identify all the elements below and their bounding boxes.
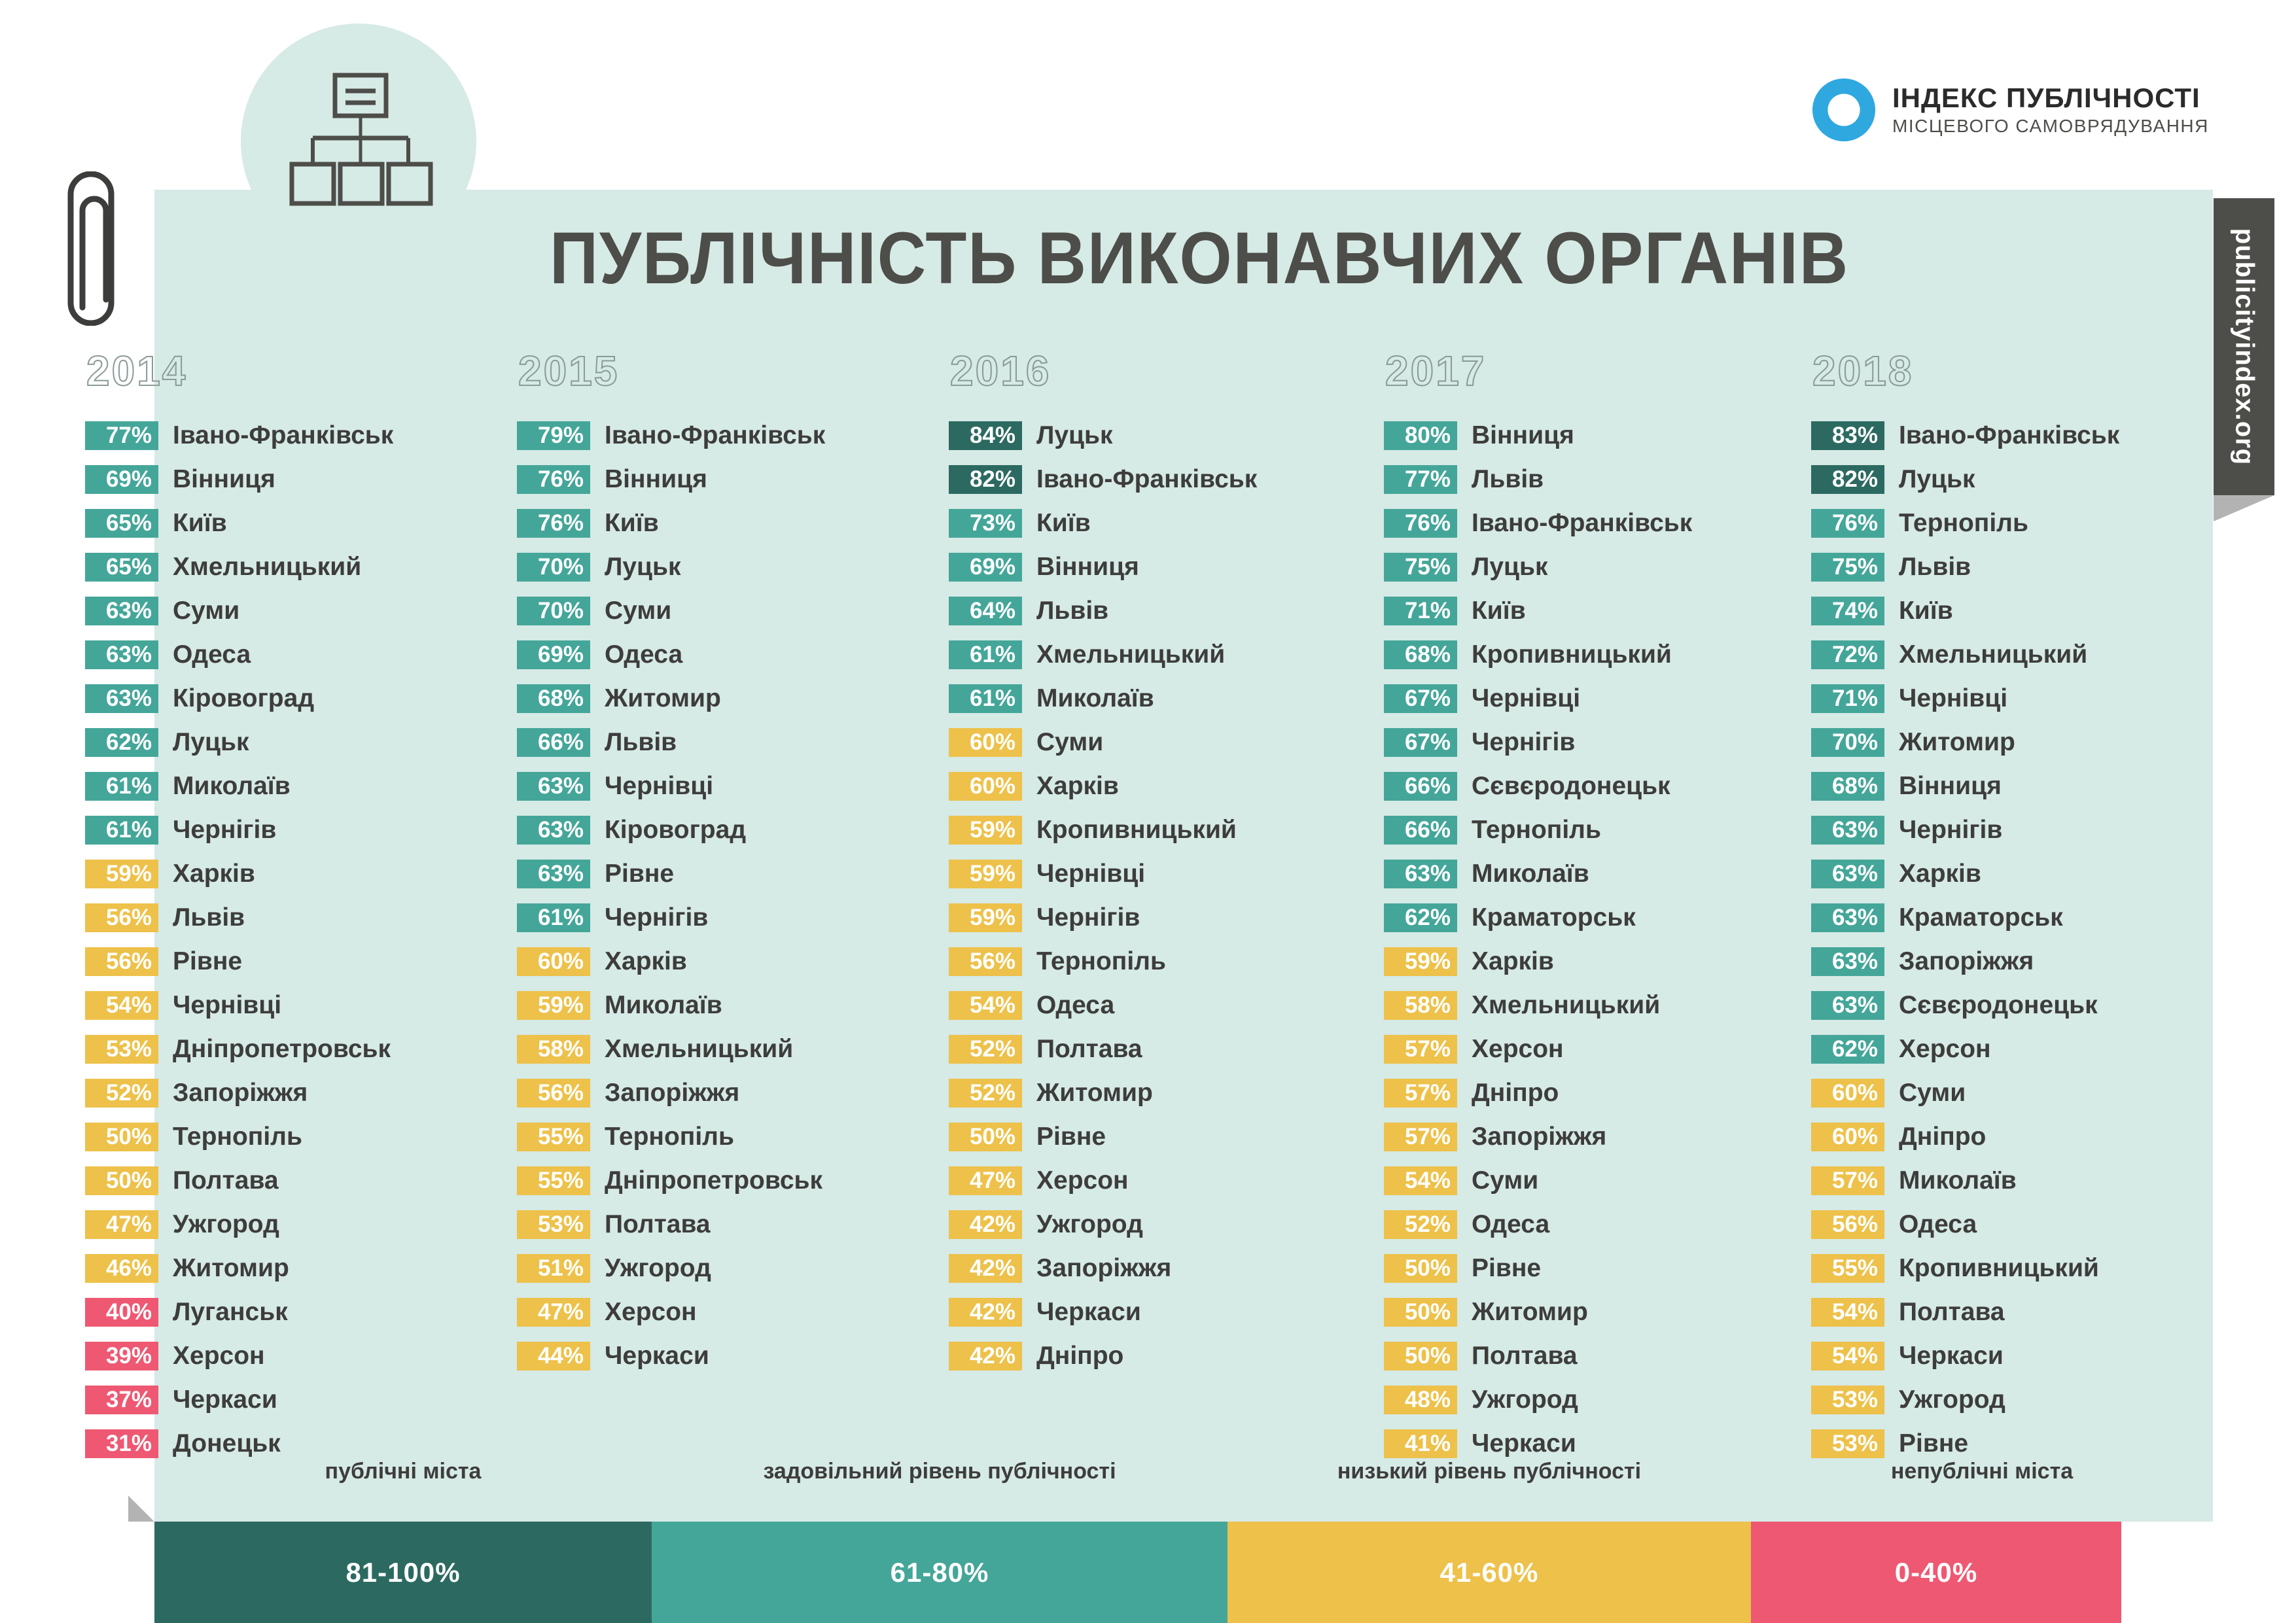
legend-labels: публічні містазадовільний рівень публічн… bbox=[154, 1459, 2213, 1522]
city-label: Луганськ bbox=[173, 1298, 288, 1327]
ranking-row: 77%Львів bbox=[1384, 461, 1692, 498]
infographic-canvas: ПУБЛІЧНІСТЬ ВИКОНАВЧИХ ОРГАНІВ ІНДЕКС ПУ… bbox=[0, 0, 2296, 1623]
score-chip: 76% bbox=[1384, 509, 1457, 538]
score-chip: 37% bbox=[85, 1386, 158, 1414]
city-label: Черкаси bbox=[1472, 1429, 1576, 1458]
city-label: Чернівці bbox=[1036, 860, 1145, 888]
score-chip: 79% bbox=[517, 421, 590, 450]
ranking-row: 46%Житомир bbox=[85, 1250, 393, 1287]
ranking-row: 58%Хмельницький bbox=[1384, 987, 1692, 1024]
score-chip: 55% bbox=[517, 1123, 590, 1151]
city-label: Черкаси bbox=[1036, 1298, 1141, 1327]
ranking-row: 68%Вінниця bbox=[1811, 768, 2119, 805]
city-label: Чернівці bbox=[1899, 684, 2007, 713]
city-label: Київ bbox=[1036, 509, 1091, 538]
ranking-row: 79%Івано-Франківськ bbox=[517, 417, 825, 454]
ranking-row: 68%Житомир bbox=[517, 680, 825, 717]
score-chip: 54% bbox=[949, 991, 1022, 1020]
score-chip: 72% bbox=[1811, 640, 1884, 669]
score-chip: 57% bbox=[1384, 1035, 1457, 1064]
year-column-2015: 201579%Івано-Франківськ76%Вінниця76%Київ… bbox=[517, 347, 825, 1382]
score-chip: 42% bbox=[949, 1342, 1022, 1370]
score-chip: 54% bbox=[85, 991, 158, 1020]
year-heading: 2018 bbox=[1812, 347, 2119, 395]
ranking-row: 48%Ужгород bbox=[1384, 1382, 1692, 1418]
score-chip: 63% bbox=[1811, 816, 1884, 845]
ranking-row: 56%Запоріжжя bbox=[517, 1075, 825, 1111]
city-label: Тернопіль bbox=[173, 1123, 302, 1151]
city-label: Київ bbox=[1472, 597, 1526, 625]
city-label: Луцьк bbox=[1036, 421, 1113, 450]
city-label: Вінниця bbox=[173, 465, 275, 494]
ranking-row: 76%Вінниця bbox=[517, 461, 825, 498]
ranking-row: 62%Херсон bbox=[1811, 1031, 2119, 1068]
city-label: Полтава bbox=[1899, 1298, 2005, 1327]
city-label: Херсон bbox=[605, 1298, 697, 1327]
score-chip: 54% bbox=[1811, 1342, 1884, 1370]
ranking-row: 52%Одеса bbox=[1384, 1206, 1692, 1243]
score-chip: 61% bbox=[85, 772, 158, 801]
ranking-row: 57%Дніпро bbox=[1384, 1075, 1692, 1111]
score-chip: 52% bbox=[949, 1079, 1022, 1108]
ranking-row: 63%Рівне bbox=[517, 856, 825, 892]
score-chip: 56% bbox=[949, 947, 1022, 976]
year-heading: 2014 bbox=[86, 347, 393, 395]
ranking-row: 63%Чернігів bbox=[1811, 812, 2119, 848]
score-chip: 75% bbox=[1384, 553, 1457, 582]
score-chip: 63% bbox=[85, 597, 158, 625]
ranking-row: 47%Херсон bbox=[949, 1162, 1257, 1199]
city-label: Тернопіль bbox=[605, 1123, 734, 1151]
city-label: Вінниця bbox=[605, 465, 707, 494]
city-label: Кропивницький bbox=[1036, 816, 1237, 845]
city-label: Дніпропетровськ bbox=[173, 1035, 391, 1064]
score-chip: 47% bbox=[85, 1210, 158, 1239]
ranking-row: 54%Полтава bbox=[1811, 1294, 2119, 1331]
city-label: Одеса bbox=[1036, 991, 1114, 1020]
ranking-row: 39%Херсон bbox=[85, 1338, 393, 1374]
city-label: Полтава bbox=[173, 1166, 279, 1195]
legend-range-0: 81-100% bbox=[154, 1522, 652, 1623]
city-label: Чернігів bbox=[1036, 903, 1140, 932]
year-heading: 2015 bbox=[518, 347, 825, 395]
city-label: Тернопіль bbox=[1472, 816, 1601, 845]
legend-label-1: задовільний рівень публічності bbox=[652, 1459, 1227, 1484]
city-label: Харків bbox=[1899, 860, 1981, 888]
city-label: Миколаїв bbox=[173, 772, 291, 801]
city-label: Житомир bbox=[173, 1254, 289, 1283]
score-chip: 50% bbox=[1384, 1254, 1457, 1283]
ranking-row: 56%Рівне bbox=[85, 943, 393, 980]
city-label: Рівне bbox=[173, 947, 242, 976]
score-chip: 53% bbox=[517, 1210, 590, 1239]
score-chip: 62% bbox=[1811, 1035, 1884, 1064]
city-label: Хмельницький bbox=[1899, 640, 2087, 669]
score-chip: 56% bbox=[517, 1079, 590, 1108]
score-chip: 59% bbox=[1384, 947, 1457, 976]
ranking-row: 53%Полтава bbox=[517, 1206, 825, 1243]
ranking-row: 75%Львів bbox=[1811, 549, 2119, 585]
city-label: Тернопіль bbox=[1899, 509, 2028, 538]
ranking-row: 54%Одеса bbox=[949, 987, 1257, 1024]
ranking-row: 77%Івано-Франківськ bbox=[85, 417, 393, 454]
city-label: Запоріжжя bbox=[1036, 1254, 1171, 1283]
score-chip: 76% bbox=[517, 509, 590, 538]
city-label: Миколаїв bbox=[605, 991, 722, 1020]
score-chip: 63% bbox=[85, 684, 158, 713]
ranking-row: 42%Дніпро bbox=[949, 1338, 1257, 1374]
score-chip: 63% bbox=[1811, 860, 1884, 888]
ranking-row: 63%Запоріжжя bbox=[1811, 943, 2119, 980]
ranking-row: 54%Чернівці bbox=[85, 987, 393, 1024]
ranking-row: 60%Харків bbox=[949, 768, 1257, 805]
ranking-row: 62%Краматорськ bbox=[1384, 899, 1692, 936]
ranking-row: 74%Київ bbox=[1811, 593, 2119, 629]
ranking-row: 61%Чернігів bbox=[85, 812, 393, 848]
ranking-row: 55%Тернопіль bbox=[517, 1119, 825, 1155]
ranking-row: 50%Полтава bbox=[85, 1162, 393, 1199]
ranking-row: 50%Житомир bbox=[1384, 1294, 1692, 1331]
city-label: Полтава bbox=[1472, 1342, 1578, 1370]
score-chip: 59% bbox=[949, 860, 1022, 888]
score-chip: 55% bbox=[1811, 1254, 1884, 1283]
ranking-row: 84%Луцьк bbox=[949, 417, 1257, 454]
score-chip: 53% bbox=[1811, 1429, 1884, 1458]
score-chip: 70% bbox=[517, 597, 590, 625]
ranking-row: 71%Чернівці bbox=[1811, 680, 2119, 717]
ranking-row: 69%Одеса bbox=[517, 637, 825, 673]
city-label: Черкаси bbox=[1899, 1342, 2004, 1370]
city-label: Луцьк bbox=[1472, 553, 1548, 582]
city-label: Хмельницький bbox=[605, 1035, 793, 1064]
score-chip: 52% bbox=[1384, 1210, 1457, 1239]
city-label: Чернігів bbox=[1899, 816, 2002, 845]
city-label: Київ bbox=[1899, 597, 1953, 625]
score-chip: 46% bbox=[85, 1254, 158, 1283]
ranking-row: 59%Кропивницький bbox=[949, 812, 1257, 848]
ranking-row: 55%Кропивницький bbox=[1811, 1250, 2119, 1287]
city-label: Миколаїв bbox=[1036, 684, 1154, 713]
ranking-row: 59%Чернівці bbox=[949, 856, 1257, 892]
score-chip: 54% bbox=[1811, 1298, 1884, 1327]
ranking-row: 76%Івано-Франківськ bbox=[1384, 505, 1692, 542]
score-chip: 56% bbox=[1811, 1210, 1884, 1239]
ranking-row: 62%Луцьк bbox=[85, 724, 393, 761]
score-chip: 63% bbox=[1384, 860, 1457, 888]
city-label: Львів bbox=[1472, 465, 1544, 494]
score-chip: 42% bbox=[949, 1210, 1022, 1239]
city-label: Суми bbox=[605, 597, 671, 625]
ranking-row: 44%Черкаси bbox=[517, 1338, 825, 1374]
ranking-row: 82%Івано-Франківськ bbox=[949, 461, 1257, 498]
city-label: Полтава bbox=[605, 1210, 711, 1239]
ranking-row: 59%Харків bbox=[1384, 943, 1692, 980]
city-label: Ужгород bbox=[173, 1210, 279, 1239]
ranking-row: 63%Кіровоград bbox=[85, 680, 393, 717]
ranking-row: 65%Київ bbox=[85, 505, 393, 542]
ranking-row: 82%Луцьк bbox=[1811, 461, 2119, 498]
city-label: Краматорськ bbox=[1472, 903, 1636, 932]
ranking-row: 41%Черкаси bbox=[1384, 1425, 1692, 1462]
score-chip: 76% bbox=[1811, 509, 1884, 538]
city-label: Суми bbox=[1899, 1079, 1966, 1108]
city-label: Запоріжжя bbox=[1899, 947, 2034, 976]
city-label: Чернігів bbox=[173, 816, 276, 845]
legend-range-3: 0-40% bbox=[1751, 1522, 2121, 1623]
score-chip: 61% bbox=[949, 684, 1022, 713]
year-column-2016: 201684%Луцьк82%Івано-Франківськ73%Київ69… bbox=[949, 347, 1257, 1382]
ranking-row: 50%Полтава bbox=[1384, 1338, 1692, 1374]
score-chip: 55% bbox=[517, 1166, 590, 1195]
ranking-row: 60%Суми bbox=[949, 724, 1257, 761]
ranking-row: 56%Львів bbox=[85, 899, 393, 936]
score-chip: 68% bbox=[517, 684, 590, 713]
ranking-row: 57%Миколаїв bbox=[1811, 1162, 2119, 1199]
score-chip: 59% bbox=[949, 903, 1022, 932]
ranking-row: 61%Хмельницький bbox=[949, 637, 1257, 673]
score-chip: 50% bbox=[1384, 1342, 1457, 1370]
year-heading: 2016 bbox=[950, 347, 1257, 395]
city-label: Львів bbox=[1899, 553, 1971, 582]
score-chip: 44% bbox=[517, 1342, 590, 1370]
ranking-row: 51%Ужгород bbox=[517, 1250, 825, 1287]
score-chip: 82% bbox=[949, 465, 1022, 494]
score-chip: 60% bbox=[1811, 1079, 1884, 1108]
city-label: Хмельницький bbox=[1472, 991, 1660, 1020]
city-label: Вінниця bbox=[1036, 553, 1139, 582]
city-label: Кіровоград bbox=[173, 684, 314, 713]
ranking-row: 63%Миколаїв bbox=[1384, 856, 1692, 892]
city-label: Ужгород bbox=[605, 1254, 711, 1283]
city-label: Миколаїв bbox=[1472, 860, 1589, 888]
ranking-row: 76%Тернопіль bbox=[1811, 505, 2119, 542]
ranking-row: 80%Вінниця bbox=[1384, 417, 1692, 454]
ranking-row: 60%Харків bbox=[517, 943, 825, 980]
city-label: Чернівці bbox=[1472, 684, 1580, 713]
score-chip: 60% bbox=[1811, 1123, 1884, 1151]
score-chip: 75% bbox=[1811, 553, 1884, 582]
ranking-row: 66%Сєвєродонецьк bbox=[1384, 768, 1692, 805]
ranking-row: 63%Краматорськ bbox=[1811, 899, 2119, 936]
legend-range-1: 61-80% bbox=[652, 1522, 1227, 1623]
score-chip: 83% bbox=[1811, 421, 1884, 450]
city-label: Житомир bbox=[1036, 1079, 1153, 1108]
city-label: Харків bbox=[173, 860, 255, 888]
ranking-row: 42%Черкаси bbox=[949, 1294, 1257, 1331]
score-chip: 63% bbox=[1811, 903, 1884, 932]
city-label: Рівне bbox=[605, 860, 674, 888]
ranking-row: 76%Київ bbox=[517, 505, 825, 542]
score-chip: 63% bbox=[1811, 947, 1884, 976]
score-chip: 56% bbox=[85, 947, 158, 976]
ranking-row: 65%Хмельницький bbox=[85, 549, 393, 585]
city-label: Вінниця bbox=[1472, 421, 1574, 450]
city-label: Харків bbox=[1036, 772, 1119, 801]
score-chip: 66% bbox=[517, 728, 590, 757]
legend-label-2: низький рівень публічності bbox=[1227, 1459, 1751, 1484]
score-chip: 80% bbox=[1384, 421, 1457, 450]
ranking-row: 73%Київ bbox=[949, 505, 1257, 542]
ranking-row: 67%Чернігів bbox=[1384, 724, 1692, 761]
score-chip: 69% bbox=[949, 553, 1022, 582]
year-heading: 2017 bbox=[1385, 347, 1692, 395]
score-chip: 77% bbox=[85, 421, 158, 450]
city-label: Одеса bbox=[605, 640, 682, 669]
score-chip: 76% bbox=[517, 465, 590, 494]
city-label: Херсон bbox=[173, 1342, 265, 1370]
ranking-row: 72%Хмельницький bbox=[1811, 637, 2119, 673]
score-chip: 71% bbox=[1384, 597, 1457, 625]
score-chip: 65% bbox=[85, 553, 158, 582]
score-chip: 62% bbox=[1384, 903, 1457, 932]
ranking-row: 70%Житомир bbox=[1811, 724, 2119, 761]
score-chip: 59% bbox=[517, 991, 590, 1020]
city-label: Херсон bbox=[1899, 1035, 1991, 1064]
legend-bar: 81-100%61-80%41-60%0-40% bbox=[154, 1522, 2121, 1623]
ranking-row: 55%Дніпропетровськ bbox=[517, 1162, 825, 1199]
city-label: Луцьк bbox=[173, 728, 249, 757]
score-chip: 70% bbox=[517, 553, 590, 582]
ranking-row: 61%Миколаїв bbox=[949, 680, 1257, 717]
score-chip: 69% bbox=[517, 640, 590, 669]
city-label: Вінниця bbox=[1899, 772, 2002, 801]
city-label: Сєвєродонецьк bbox=[1472, 772, 1670, 801]
city-label: Миколаїв bbox=[1899, 1166, 2017, 1195]
ranking-row: 75%Луцьк bbox=[1384, 549, 1692, 585]
city-label: Дніпро bbox=[1899, 1123, 1986, 1151]
city-label: Івано-Франківськ bbox=[1899, 421, 2119, 450]
city-label: Суми bbox=[1472, 1166, 1538, 1195]
score-chip: 57% bbox=[1811, 1166, 1884, 1195]
city-label: Черкаси bbox=[173, 1386, 277, 1414]
city-label: Житомир bbox=[605, 684, 721, 713]
score-chip: 52% bbox=[85, 1079, 158, 1108]
ranking-row: 58%Хмельницький bbox=[517, 1031, 825, 1068]
ranking-row: 63%Суми bbox=[85, 593, 393, 629]
ranking-row: 52%Житомир bbox=[949, 1075, 1257, 1111]
score-chip: 68% bbox=[1384, 640, 1457, 669]
ranking-row: 70%Суми bbox=[517, 593, 825, 629]
score-chip: 56% bbox=[85, 903, 158, 932]
city-label: Рівне bbox=[1036, 1123, 1106, 1151]
score-chip: 74% bbox=[1811, 597, 1884, 625]
city-label: Суми bbox=[1036, 728, 1103, 757]
city-label: Хмельницький bbox=[1036, 640, 1225, 669]
city-label: Чернігів bbox=[1472, 728, 1575, 757]
score-chip: 57% bbox=[1384, 1123, 1457, 1151]
score-chip: 82% bbox=[1811, 465, 1884, 494]
score-chip: 64% bbox=[949, 597, 1022, 625]
city-label: Сєвєродонецьк bbox=[1899, 991, 2098, 1020]
ranking-row: 47%Ужгород bbox=[85, 1206, 393, 1243]
city-label: Чернігів bbox=[605, 903, 708, 932]
score-chip: 40% bbox=[85, 1298, 158, 1327]
ranking-row: 50%Рівне bbox=[949, 1119, 1257, 1155]
ranking-row: 53%Рівне bbox=[1811, 1425, 2119, 1462]
ranking-row: 67%Чернівці bbox=[1384, 680, 1692, 717]
ranking-row: 63%Чернівці bbox=[517, 768, 825, 805]
year-column-2017: 201780%Вінниця77%Львів76%Івано-Франківсь… bbox=[1384, 347, 1692, 1469]
score-chip: 54% bbox=[1384, 1166, 1457, 1195]
city-label: Луцьк bbox=[1899, 465, 1975, 494]
score-chip: 61% bbox=[85, 816, 158, 845]
score-chip: 67% bbox=[1384, 684, 1457, 713]
year-column-2018: 201883%Івано-Франківськ82%Луцьк76%Терноп… bbox=[1811, 347, 2119, 1469]
ranking-row: 53%Дніпропетровськ bbox=[85, 1031, 393, 1068]
city-label: Дніпропетровськ bbox=[605, 1166, 822, 1195]
ranking-row: 54%Суми bbox=[1384, 1162, 1692, 1199]
city-label: Одеса bbox=[1472, 1210, 1549, 1239]
city-label: Одеса bbox=[173, 640, 251, 669]
city-label: Івано-Франківськ bbox=[1036, 465, 1257, 494]
score-chip: 71% bbox=[1811, 684, 1884, 713]
score-chip: 41% bbox=[1384, 1429, 1457, 1458]
score-chip: 84% bbox=[949, 421, 1022, 450]
ranking-row: 59%Харків bbox=[85, 856, 393, 892]
city-label: Ужгород bbox=[1899, 1386, 2005, 1414]
city-label: Львів bbox=[1036, 597, 1108, 625]
ranking-row: 63%Сєвєродонецьк bbox=[1811, 987, 2119, 1024]
year-columns: 201477%Івано-Франківськ69%Вінниця65%Київ… bbox=[0, 0, 2296, 1623]
ranking-row: 31%Донецьк bbox=[85, 1425, 393, 1462]
ranking-row: 68%Кропивницький bbox=[1384, 637, 1692, 673]
score-chip: 53% bbox=[85, 1035, 158, 1064]
ranking-row: 57%Запоріжжя bbox=[1384, 1119, 1692, 1155]
score-chip: 48% bbox=[1384, 1386, 1457, 1414]
city-label: Львів bbox=[173, 903, 245, 932]
score-chip: 59% bbox=[85, 860, 158, 888]
score-chip: 62% bbox=[85, 728, 158, 757]
legend-label-3: непублічні міста bbox=[1751, 1459, 2213, 1484]
legend-range-2: 41-60% bbox=[1227, 1522, 1751, 1623]
legend-label-0: публічні міста bbox=[154, 1459, 652, 1484]
ranking-row: 61%Чернігів bbox=[517, 899, 825, 936]
year-column-2014: 201477%Івано-Франківськ69%Вінниця65%Київ… bbox=[85, 347, 393, 1469]
ranking-row: 69%Вінниця bbox=[85, 461, 393, 498]
ranking-row: 40%Луганськ bbox=[85, 1294, 393, 1331]
score-chip: 47% bbox=[949, 1166, 1022, 1195]
ranking-row: 66%Тернопіль bbox=[1384, 812, 1692, 848]
ranking-row: 61%Миколаїв bbox=[85, 768, 393, 805]
score-chip: 63% bbox=[85, 640, 158, 669]
city-label: Запоріжжя bbox=[1472, 1123, 1606, 1151]
score-chip: 50% bbox=[949, 1123, 1022, 1151]
city-label: Луцьк bbox=[605, 553, 681, 582]
score-chip: 42% bbox=[949, 1254, 1022, 1283]
ranking-row: 64%Львів bbox=[949, 593, 1257, 629]
score-chip: 58% bbox=[517, 1035, 590, 1064]
city-label: Тернопіль bbox=[1036, 947, 1166, 976]
city-label: Харків bbox=[605, 947, 687, 976]
ranking-row: 70%Луцьк bbox=[517, 549, 825, 585]
ranking-row: 60%Дніпро bbox=[1811, 1119, 2119, 1155]
ranking-row: 57%Херсон bbox=[1384, 1031, 1692, 1068]
city-label: Київ bbox=[173, 509, 227, 538]
score-chip: 68% bbox=[1811, 772, 1884, 801]
score-chip: 61% bbox=[949, 640, 1022, 669]
ranking-row: 59%Миколаїв bbox=[517, 987, 825, 1024]
score-chip: 58% bbox=[1384, 991, 1457, 1020]
city-label: Запоріжжя bbox=[605, 1079, 739, 1108]
ranking-row: 66%Львів bbox=[517, 724, 825, 761]
ranking-row: 56%Тернопіль bbox=[949, 943, 1257, 980]
ranking-row: 52%Запоріжжя bbox=[85, 1075, 393, 1111]
city-label: Івано-Франківськ bbox=[1472, 509, 1692, 538]
score-chip: 60% bbox=[949, 728, 1022, 757]
city-label: Дніпро bbox=[1472, 1079, 1559, 1108]
ranking-row: 60%Суми bbox=[1811, 1075, 2119, 1111]
city-label: Кропивницький bbox=[1899, 1254, 2099, 1283]
